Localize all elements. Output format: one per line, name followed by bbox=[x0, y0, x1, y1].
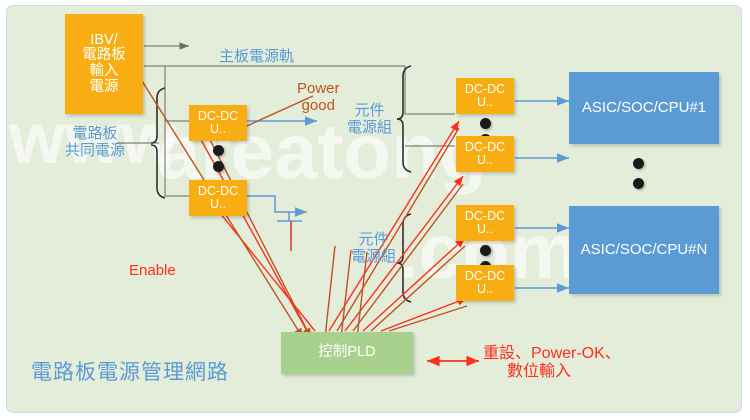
diagram-title: 電路板電源管理網路 bbox=[31, 356, 229, 386]
input-power-line-4: 電源 bbox=[90, 80, 119, 96]
dcdc-label-bottom: U.. bbox=[210, 123, 226, 137]
bcp-line-2: 共同電源 bbox=[65, 142, 125, 159]
label-reset-powerok: 重設、Power-OK、 數位輸入 bbox=[483, 345, 621, 382]
dcdc-label-top: DC-DC bbox=[465, 270, 505, 284]
dcdc-label-bottom: U.. bbox=[210, 198, 226, 212]
diagram-canvas: www areatong .com bbox=[6, 5, 742, 413]
cpg2-line-1: 元件 bbox=[359, 231, 389, 248]
label-enable: Enable bbox=[129, 262, 176, 279]
dcdc-left-1[interactable]: DC-DC U.. bbox=[189, 105, 247, 141]
dcdc-label-top: DC-DC bbox=[465, 141, 505, 155]
ellipsis-dot bbox=[480, 118, 491, 129]
reset-line-2: 數位輸入 bbox=[507, 363, 571, 381]
power-good-line-1: Power bbox=[297, 80, 340, 97]
block-input-power[interactable]: IBV/ 電路板 輸入 電源 bbox=[65, 14, 143, 114]
dcdc-label-top: DC-DC bbox=[465, 83, 505, 97]
block-asic-n[interactable]: ASIC/SOC/CPU#N bbox=[569, 206, 719, 294]
dcdc-label-bottom: U.. bbox=[477, 283, 493, 297]
label-power-good: Power good bbox=[297, 80, 340, 115]
label-board-common-power: 電路板 共同電源 bbox=[65, 125, 125, 160]
ellipsis-dot bbox=[213, 161, 224, 172]
asic-n-label: ASIC/SOC/CPU#N bbox=[581, 242, 708, 258]
label-main-rail: 主板電源軌 bbox=[219, 48, 294, 65]
input-power-line-3: 輸入 bbox=[90, 64, 119, 80]
block-control-pld[interactable]: 控制PLD bbox=[281, 332, 413, 374]
ellipsis-dot bbox=[633, 158, 644, 169]
power-good-line-2: good bbox=[302, 97, 335, 114]
block-asic-1[interactable]: ASIC/SOC/CPU#1 bbox=[569, 72, 719, 144]
dcdc-right-3[interactable]: DC-DC U.. bbox=[456, 205, 514, 241]
input-power-line-1: IBV/ bbox=[90, 33, 117, 49]
asic-1-label: ASIC/SOC/CPU#1 bbox=[582, 100, 706, 116]
bcp-line-1: 電路板 bbox=[73, 125, 118, 142]
label-component-power-group-2: 元件 電源組 bbox=[351, 231, 396, 266]
pld-label: 控制PLD bbox=[318, 345, 375, 361]
dcdc-right-4[interactable]: DC-DC U.. bbox=[456, 265, 514, 301]
ellipsis-dot bbox=[213, 145, 224, 156]
dcdc-label-bottom: U.. bbox=[477, 154, 493, 168]
cpg2-line-2: 電源組 bbox=[351, 248, 396, 265]
dcdc-right-2[interactable]: DC-DC U.. bbox=[456, 136, 514, 172]
dcdc-label-bottom: U.. bbox=[477, 96, 493, 110]
ellipsis-dot bbox=[633, 178, 644, 189]
input-power-line-2: 電路板 bbox=[82, 48, 126, 64]
label-component-power-group-1: 元件 電源組 bbox=[347, 102, 392, 137]
cpg1-line-2: 電源組 bbox=[347, 119, 392, 136]
screenshot-frame: www areatong .com bbox=[0, 0, 750, 420]
dcdc-label-top: DC-DC bbox=[465, 210, 505, 224]
dcdc-label-top: DC-DC bbox=[198, 110, 238, 124]
ellipsis-dot bbox=[480, 245, 491, 256]
dcdc-right-1[interactable]: DC-DC U.. bbox=[456, 78, 514, 114]
cpg1-line-1: 元件 bbox=[355, 102, 385, 119]
dcdc-label-bottom: U.. bbox=[477, 223, 493, 237]
dcdc-left-2[interactable]: DC-DC U.. bbox=[189, 180, 247, 216]
reset-line-1: 重設、Power-OK、 bbox=[483, 345, 621, 362]
dcdc-label-top: DC-DC bbox=[198, 185, 238, 199]
